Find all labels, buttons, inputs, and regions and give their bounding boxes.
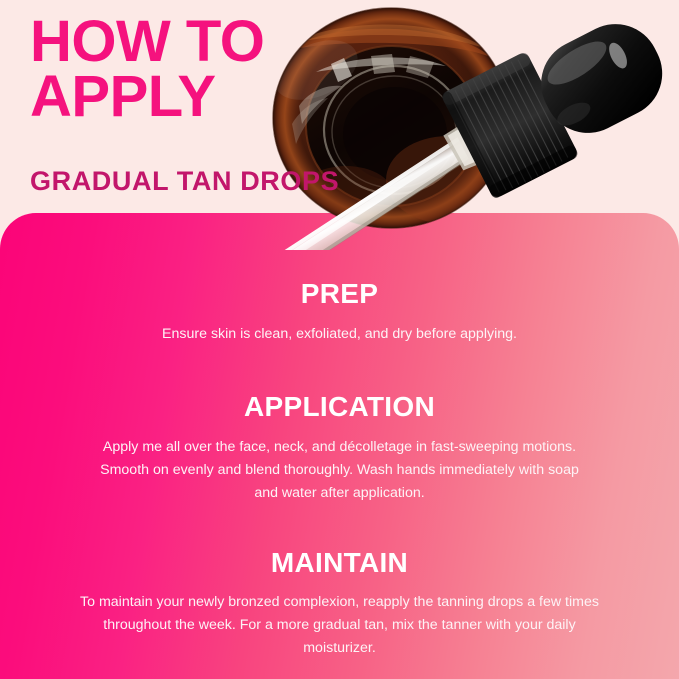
section-application: APPLICATION Apply me all over the face, … (60, 392, 620, 505)
instructions-panel: PREP Ensure skin is clean, exfoliated, a… (0, 213, 679, 679)
section-heading-prep: PREP (60, 279, 620, 310)
title-line-1: HOW TO (30, 14, 264, 69)
section-prep: PREP Ensure skin is clean, exfoliated, a… (60, 279, 620, 346)
sections-list: PREP Ensure skin is clean, exfoliated, a… (0, 213, 679, 660)
section-heading-application: APPLICATION (60, 392, 620, 423)
page-title: HOW TO APPLY (30, 14, 264, 124)
section-heading-maintain: MAINTAIN (60, 548, 620, 579)
title-line-2: APPLY (30, 69, 264, 124)
how-to-apply-poster: HOW TO APPLY GRADUAL TAN DROPS (0, 0, 679, 679)
section-body-application: Apply me all over the face, neck, and dé… (90, 436, 590, 505)
page-subtitle: GRADUAL TAN DROPS (30, 166, 339, 197)
section-body-prep: Ensure skin is clean, exfoliated, and dr… (105, 323, 575, 346)
section-maintain: MAINTAIN To maintain your newly bronzed … (60, 548, 620, 661)
section-body-maintain: To maintain your newly bronzed complexio… (70, 591, 610, 660)
